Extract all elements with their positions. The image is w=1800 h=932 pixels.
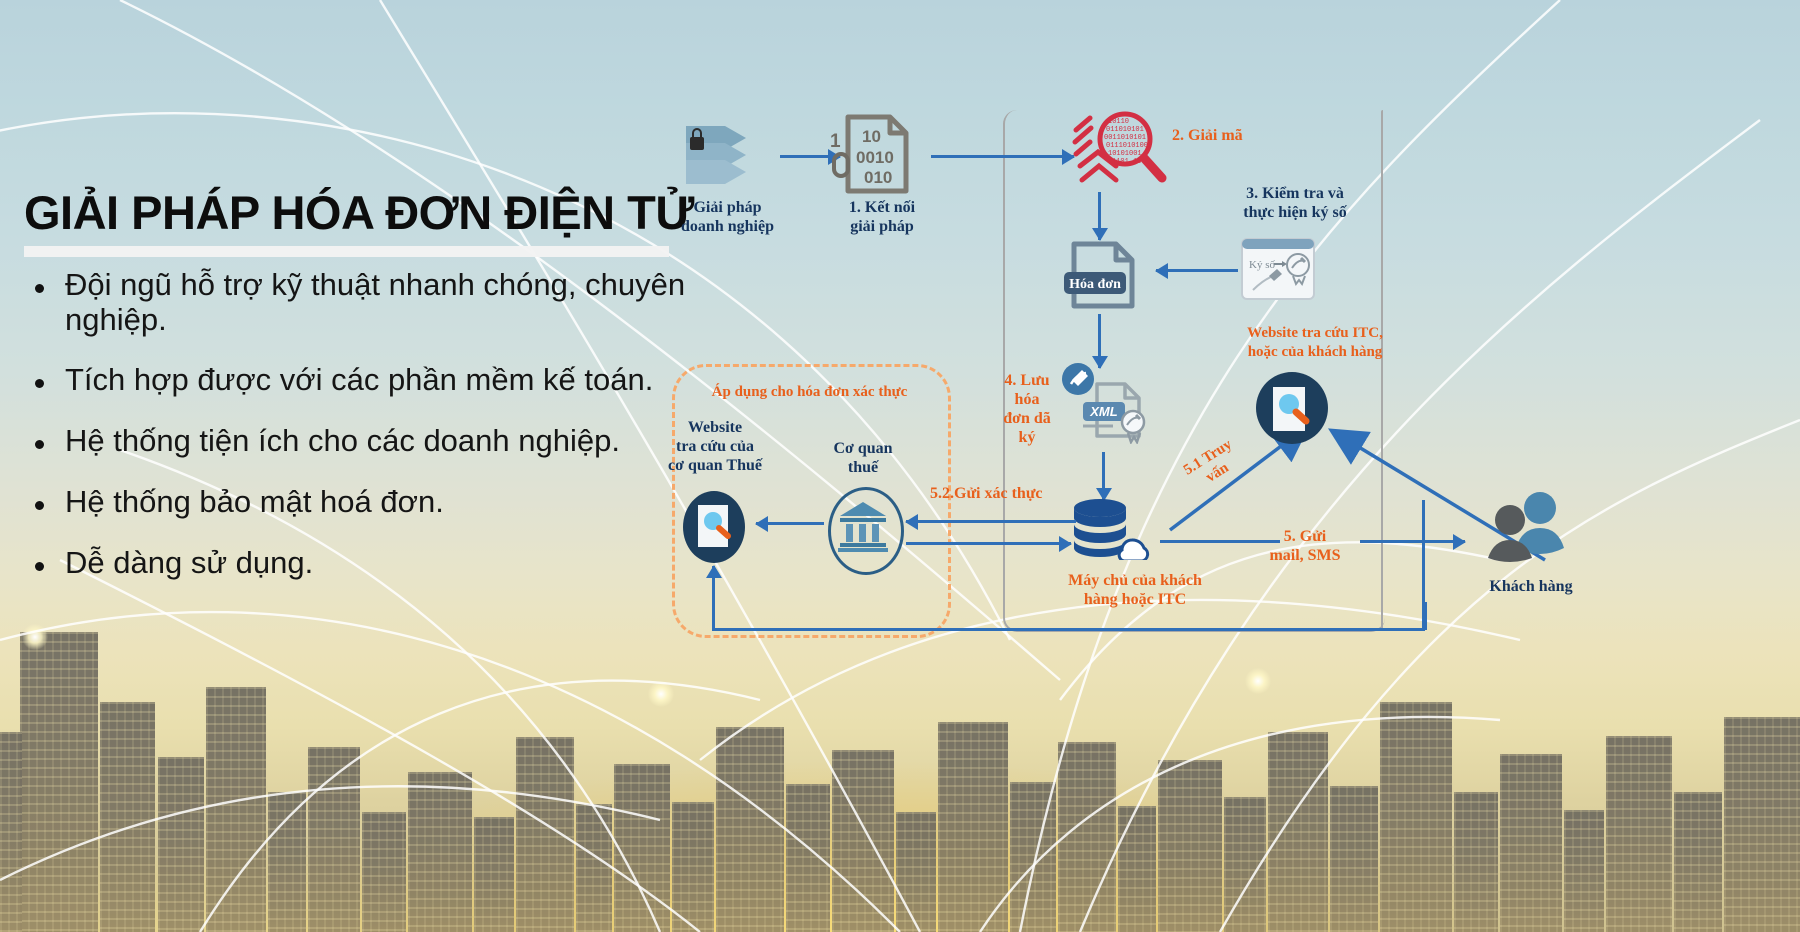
node-label-check-sign-l2: thực hiện ký số xyxy=(1200,204,1390,223)
node-label-store-l2: hóa xyxy=(982,391,1072,410)
node-label-customer: Khách hàng xyxy=(1456,578,1606,597)
building xyxy=(1330,786,1378,932)
flow-label-send-mail-l1: 5. Gửi xyxy=(1245,528,1365,547)
list-item: Hệ thống bảo mật hoá đơn. xyxy=(30,485,750,520)
bank-icon xyxy=(838,500,888,552)
building xyxy=(1500,754,1562,932)
building xyxy=(20,632,98,932)
building xyxy=(268,792,306,932)
building xyxy=(516,737,574,932)
building xyxy=(896,812,936,932)
arrow-bus-to-tax-website xyxy=(712,566,715,630)
slide-canvas: GIẢI PHÁP HÓA ĐƠN ĐIỆN TỬ Đội ngũ hỗ trợ… xyxy=(0,0,1800,932)
building xyxy=(1268,732,1328,932)
node-label-server-l1: Máy chủ của khách xyxy=(1025,572,1245,591)
arrow-signature-to-invoice xyxy=(1156,269,1238,272)
node-label-itc-website-l1: Website tra cứu ITC, xyxy=(1200,325,1430,343)
node-label-connect-l1: 1. Kết nối xyxy=(812,199,952,218)
building xyxy=(1224,797,1266,932)
svg-text:10: 10 xyxy=(862,127,881,146)
svg-text:1101 10: 1101 10 xyxy=(1112,158,1141,166)
flow-label-send-mail-l2: mail, SMS xyxy=(1245,547,1365,566)
building xyxy=(206,687,266,932)
node-label-enterprise-solution-l1: Giải pháp xyxy=(655,199,800,218)
network-node-glow xyxy=(1245,668,1271,694)
building xyxy=(786,784,830,932)
svg-text:1: 1 xyxy=(830,131,841,152)
building xyxy=(362,812,406,932)
svg-text:XML: XML xyxy=(1089,404,1118,419)
zone-label-applies-to-authenticated-invoice: Áp dụng cho hóa đơn xác thực xyxy=(672,384,947,402)
feature-bullet-list: Đội ngũ hỗ trợ kỹ thuật nhanh chóng, chu… xyxy=(30,268,750,606)
node-label-check-sign-l1: 3. Kiểm tra và xyxy=(1200,185,1390,204)
svg-text:Ký số: Ký số xyxy=(1249,259,1275,271)
bottom-bus-horizontal xyxy=(712,628,1425,631)
building xyxy=(1564,810,1604,932)
building xyxy=(672,802,714,932)
building xyxy=(100,702,155,932)
node-label-store-l4: ký xyxy=(982,429,1072,448)
arrow-connect-to-decrypt xyxy=(931,155,1074,158)
page-title-block: GIẢI PHÁP HÓA ĐƠN ĐIỆN TỬ xyxy=(24,188,724,257)
node-label-tax-website-l3: cơ quan Thuế xyxy=(650,457,780,476)
document-search-icon xyxy=(696,503,734,551)
document-search-icon xyxy=(1270,385,1314,433)
invoice-document-icon: Hóa đơn xyxy=(1062,240,1144,312)
building xyxy=(408,772,472,932)
node-label-enterprise-solution-l2: doanh nghiệp xyxy=(655,218,800,237)
svg-text:Hóa đơn: Hóa đơn xyxy=(1069,277,1121,292)
page-title: GIẢI PHÁP HÓA ĐƠN ĐIỆN TỬ xyxy=(24,188,724,237)
node-label-store-l3: đơn dã xyxy=(982,410,1072,429)
building xyxy=(1724,717,1800,932)
list-item: Tích hợp được với các phần mềm kế toán. xyxy=(30,363,750,398)
node-label-tax-authority-l1: Cơ quan xyxy=(808,440,918,459)
digital-signature-icon: Ký số xyxy=(1241,238,1315,300)
title-underline-rule xyxy=(24,246,669,257)
node-label-server-l2: hàng hoặc ITC xyxy=(1025,591,1245,610)
network-node-glow xyxy=(22,624,48,650)
node-label-tax-website-l2: tra cứu của xyxy=(650,438,780,457)
building xyxy=(1118,806,1156,932)
svg-text:011010101: 011010101 xyxy=(1106,126,1144,134)
svg-text:0111010100: 0111010100 xyxy=(1106,142,1148,150)
node-label-decrypt: 2. Giải mã xyxy=(1172,127,1332,146)
binary-document-icon: 1 10 0010 010 xyxy=(826,113,912,197)
users-icon xyxy=(1484,490,1570,562)
node-label-connect-l2: giải pháp xyxy=(812,218,952,237)
building xyxy=(716,727,784,932)
building xyxy=(0,732,22,932)
node-label-tax-website-l1: Website xyxy=(650,419,780,438)
node-label-store-l1: 4. Lưu xyxy=(982,372,1072,391)
building xyxy=(832,750,894,932)
svg-text:0010: 0010 xyxy=(856,148,894,167)
building xyxy=(474,817,514,932)
customer-riser xyxy=(1424,602,1427,630)
svg-text:0011010101: 0011010101 xyxy=(1104,134,1146,142)
network-node-glow xyxy=(648,681,674,707)
building xyxy=(308,747,360,932)
svg-text:010: 010 xyxy=(864,168,892,187)
arrow-invoice-to-xml xyxy=(1098,314,1101,368)
svg-text:10101001: 10101001 xyxy=(1108,150,1142,158)
list-item: Đội ngũ hỗ trợ kỹ thuật nhanh chóng, chu… xyxy=(30,268,750,337)
magnifier-binary-icon: 10110011010101 00110101010111010100 1010… xyxy=(1068,108,1170,190)
svg-text:10110: 10110 xyxy=(1108,118,1129,126)
node-label-itc-website-l2: hoặc của khách hàng xyxy=(1200,344,1430,362)
building xyxy=(1606,736,1672,932)
building xyxy=(1454,792,1498,932)
arrow-tax-authority-to-tax-website xyxy=(756,522,824,525)
building xyxy=(1674,792,1722,932)
arrow-db-to-tax-authority xyxy=(906,520,1076,523)
building xyxy=(1058,742,1116,932)
building xyxy=(1010,782,1056,932)
chevrons-lock-icon xyxy=(682,124,768,186)
database-cloud-icon xyxy=(1072,498,1150,560)
building xyxy=(158,757,204,932)
flow-label-send-authentication: 5.2.Gửi xác thực xyxy=(930,485,1130,504)
xml-signed-icon: XML xyxy=(1061,362,1157,444)
building xyxy=(938,722,1008,932)
arrow-decrypt-to-invoice xyxy=(1098,192,1101,240)
building xyxy=(1158,760,1222,932)
building xyxy=(614,764,670,932)
list-item: Hệ thống tiện ích cho các doanh nghiệp. xyxy=(30,424,750,459)
building xyxy=(576,804,612,932)
building xyxy=(1380,702,1452,932)
list-item: Dễ dàng sử dụng. xyxy=(30,546,750,581)
arrow-tax-authority-to-db xyxy=(906,542,1071,545)
arrow-mail-to-customer xyxy=(1360,540,1465,543)
node-label-tax-authority-l2: thuế xyxy=(808,459,918,478)
